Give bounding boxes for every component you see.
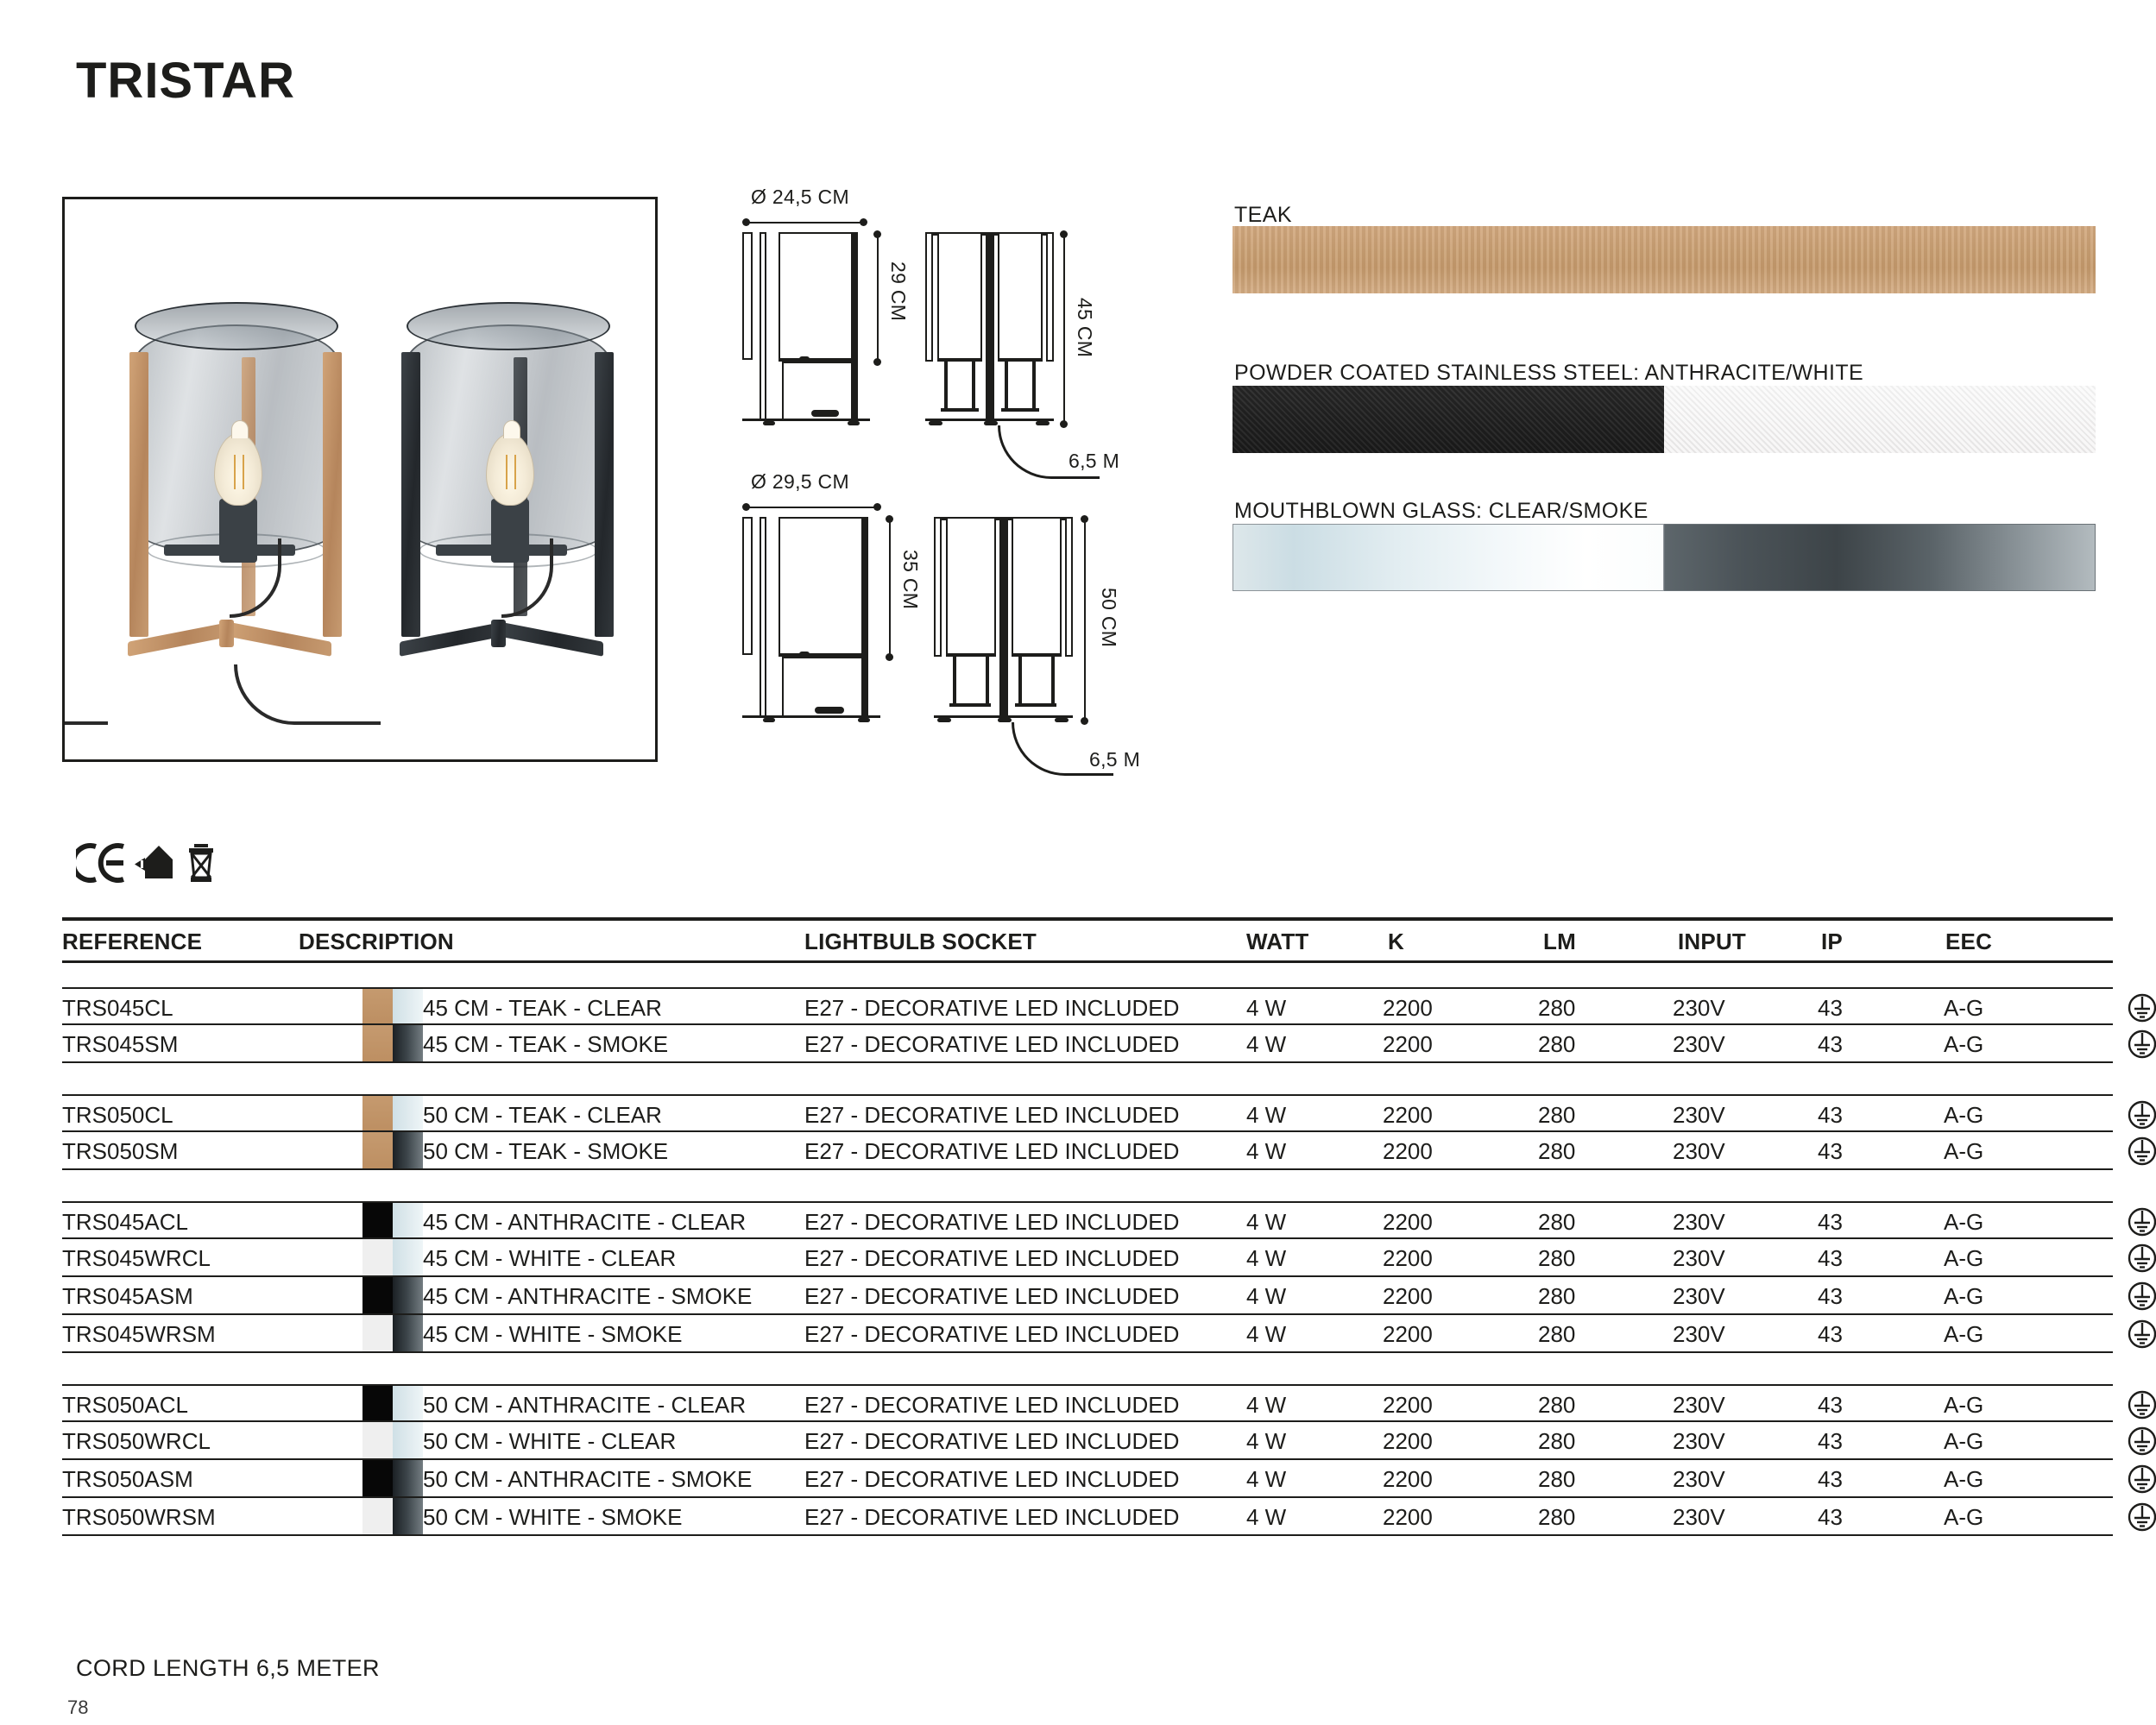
cell-input: 230V [1673, 1321, 1725, 1348]
dim-cord-a: 6,5 M [1069, 450, 1119, 473]
cell-input: 230V [1673, 1209, 1725, 1236]
cell-reference: TRS050SM [62, 1138, 178, 1165]
cell-socket: E27 - DECORATIVE LED INCLUDED [804, 1209, 1179, 1236]
cell-ip: 43 [1818, 1209, 1843, 1236]
cell-ip: 43 [1818, 1138, 1843, 1165]
cell-input: 230V [1673, 1283, 1725, 1310]
cell-ip: 43 [1818, 1466, 1843, 1493]
protective-earth-icon [2127, 1281, 2156, 1318]
cell-lm: 280 [1538, 1466, 1575, 1493]
cell-description: 45 CM - WHITE - CLEAR [423, 1245, 676, 1272]
protective-earth-icon [2127, 1243, 2156, 1280]
table-row[interactable]: TRS050SM50 CM - TEAK - SMOKEE27 - DECORA… [62, 1132, 2113, 1170]
cell-ip: 43 [1818, 1283, 1843, 1310]
swatch-smoke-glass [1664, 524, 2096, 591]
dim-total-height-b: 50 CM [1097, 588, 1120, 647]
cell-lm: 280 [1538, 1102, 1575, 1129]
cell-reference: TRS050CL [62, 1102, 173, 1129]
col-header-k: K [1388, 929, 1404, 955]
cell-eec: A-G [1944, 1392, 1983, 1419]
cell-watt: 4 W [1246, 1392, 1286, 1419]
col-header-watt: WATT [1246, 929, 1309, 955]
page-title: TRISTAR [76, 52, 295, 110]
cord-left [62, 664, 108, 725]
table-row[interactable]: TRS050WRCL50 CM - WHITE - CLEARE27 - DEC… [62, 1422, 2113, 1460]
swatch-frame-teak [362, 989, 393, 1023]
cell-lm: 280 [1538, 1245, 1575, 1272]
swatch-glass-clear [393, 1203, 423, 1237]
frame-post-left [401, 352, 420, 637]
col-header-ip: IP [1821, 929, 1843, 955]
swatch-frame-anthracite [362, 1203, 393, 1237]
cell-reference: TRS045ACL [62, 1209, 188, 1236]
swatch-glass-clear [393, 1386, 423, 1420]
cell-socket: E27 - DECORATIVE LED INCLUDED [804, 1138, 1179, 1165]
cell-input: 230V [1673, 1428, 1725, 1455]
cell-socket: E27 - DECORATIVE LED INCLUDED [804, 1321, 1179, 1348]
swatch-frame-teak [362, 1132, 393, 1168]
cell-socket: E27 - DECORATIVE LED INCLUDED [804, 1102, 1179, 1129]
table-header-rule [62, 960, 2113, 963]
cell-socket: E27 - DECORATIVE LED INCLUDED [804, 1031, 1179, 1058]
table-row[interactable]: TRS045CL45 CM - TEAK - CLEARE27 - DECORA… [62, 987, 2113, 1025]
dim-diameter-b: Ø 29,5 CM [751, 470, 849, 494]
glass-top-ellipse [135, 302, 338, 350]
cell-description: 50 CM - ANTHRACITE - SMOKE [423, 1466, 752, 1493]
cell-lm: 280 [1538, 1321, 1575, 1348]
material-label-steel: POWDER COATED STAINLESS STEEL: ANTHRACIT… [1234, 361, 1863, 386]
ce-mark-icon [76, 843, 126, 883]
table-group: TRS050ACL50 CM - ANTHRACITE - CLEARE27 -… [62, 1384, 2113, 1536]
cell-watt: 4 W [1246, 1138, 1286, 1165]
cell-k: 2200 [1383, 1428, 1433, 1455]
swatch-glass-clear [393, 1096, 423, 1130]
swatch-clear-glass [1232, 524, 1664, 591]
cell-k: 2200 [1383, 1031, 1433, 1058]
technical-drawing-50cm: Ø 29,5 CM 35 CM [742, 470, 1191, 755]
cell-socket: E27 - DECORATIVE LED INCLUDED [804, 1504, 1179, 1531]
cell-eec: A-G [1944, 1102, 1983, 1129]
cell-k: 2200 [1383, 1392, 1433, 1419]
cell-socket: E27 - DECORATIVE LED INCLUDED [804, 1245, 1179, 1272]
cell-k: 2200 [1383, 1283, 1433, 1310]
swatch-frame-anthracite [362, 1460, 393, 1496]
cell-reference: TRS050ACL [62, 1392, 188, 1419]
cell-input: 230V [1673, 1138, 1725, 1165]
protective-earth-icon [2127, 992, 2156, 1029]
table-row[interactable]: TRS050ASM50 CM - ANTHRACITE - SMOKEE27 -… [62, 1460, 2113, 1498]
col-header-lm: LM [1543, 929, 1576, 955]
cell-k: 2200 [1383, 1102, 1433, 1129]
cell-lm: 280 [1538, 1031, 1575, 1058]
cell-k: 2200 [1383, 1321, 1433, 1348]
cell-watt: 4 W [1246, 1245, 1286, 1272]
cell-ip: 43 [1818, 1321, 1843, 1348]
cell-eec: A-G [1944, 1245, 1983, 1272]
swatch-white [1664, 386, 2096, 453]
cell-lm: 280 [1538, 1428, 1575, 1455]
swatch-glass-smoke [393, 1498, 423, 1534]
protective-earth-icon [2127, 1206, 2156, 1243]
col-header-socket: LIGHTBULB SOCKET [804, 929, 1037, 955]
cell-eec: A-G [1944, 1466, 1983, 1493]
swatch-glass-clear [393, 1239, 423, 1275]
catalog-page: TRISTAR [0, 0, 2156, 1725]
table-group: TRS050CL50 CM - TEAK - CLEARE27 - DECORA… [62, 1094, 2113, 1170]
swatch-frame-anthracite [362, 1386, 393, 1420]
swatch-frame-teak [362, 1025, 393, 1061]
specification-table: REFERENCE DESCRIPTION LIGHTBULB SOCKET W… [62, 917, 2113, 1536]
lamp-anthracite [384, 252, 634, 658]
protective-earth-icon [2127, 1029, 2156, 1066]
cell-socket: E27 - DECORATIVE LED INCLUDED [804, 1283, 1179, 1310]
cell-watt: 4 W [1246, 1283, 1286, 1310]
cell-eec: A-G [1944, 1504, 1983, 1531]
cell-watt: 4 W [1246, 1466, 1286, 1493]
cell-ip: 43 [1818, 1428, 1843, 1455]
cell-socket: E27 - DECORATIVE LED INCLUDED [804, 995, 1179, 1022]
indoor-use-icon [133, 844, 176, 882]
table-row[interactable]: TRS050ACL50 CM - ANTHRACITE - CLEARE27 -… [62, 1384, 2113, 1422]
cell-eec: A-G [1944, 1138, 1983, 1165]
protective-earth-icon [2127, 1136, 2156, 1173]
cell-input: 230V [1673, 1245, 1725, 1272]
cell-watt: 4 W [1246, 995, 1286, 1022]
cell-eec: A-G [1944, 1209, 1983, 1236]
cell-description: 50 CM - WHITE - CLEAR [423, 1428, 676, 1455]
material-label-teak: TEAK [1234, 203, 1292, 228]
dim-total-height-a: 45 CM [1073, 298, 1096, 357]
cell-socket: E27 - DECORATIVE LED INCLUDED [804, 1392, 1179, 1419]
cell-description: 45 CM - ANTHRACITE - CLEAR [423, 1209, 746, 1236]
protective-earth-icon [2127, 1319, 2156, 1356]
table-header-row: REFERENCE DESCRIPTION LIGHTBULB SOCKET W… [62, 921, 2113, 960]
cell-description: 45 CM - TEAK - CLEAR [423, 995, 662, 1022]
cell-reference: TRS050ASM [62, 1466, 193, 1493]
dim-cord-b: 6,5 M [1089, 748, 1140, 771]
table-row[interactable]: TRS045WRSM45 CM - WHITE - SMOKEE27 - DEC… [62, 1315, 2113, 1353]
table-row[interactable]: TRS045WRCL45 CM - WHITE - CLEARE27 - DEC… [62, 1239, 2113, 1277]
cell-watt: 4 W [1246, 1428, 1286, 1455]
swatch-glass-smoke [393, 1277, 423, 1313]
swatch-glass-smoke [393, 1460, 423, 1496]
cell-description: 45 CM - WHITE - SMOKE [423, 1321, 682, 1348]
swatch-anthracite [1232, 386, 1664, 453]
cell-description: 45 CM - ANTHRACITE - SMOKE [423, 1283, 752, 1310]
cell-watt: 4 W [1246, 1504, 1286, 1531]
cell-lm: 280 [1538, 1209, 1575, 1236]
cell-reference: TRS045ASM [62, 1283, 193, 1310]
cell-reference: TRS045CL [62, 995, 173, 1022]
cell-ip: 43 [1818, 1392, 1843, 1419]
table-group: TRS045ACL45 CM - ANTHRACITE - CLEARE27 -… [62, 1201, 2113, 1353]
col-header-input: INPUT [1678, 929, 1746, 955]
cell-reference: TRS045WRCL [62, 1245, 211, 1272]
swatch-frame-white [362, 1422, 393, 1458]
lamp-teak [112, 252, 362, 658]
cord-drop [501, 538, 553, 618]
swatch-frame-anthracite [362, 1277, 393, 1313]
cell-input: 230V [1673, 1504, 1725, 1531]
frame-post-right [595, 352, 614, 637]
cell-k: 2200 [1383, 1209, 1433, 1236]
page-number: 78 [67, 1697, 88, 1719]
table-body: TRS045CL45 CM - TEAK - CLEARE27 - DECORA… [62, 987, 2113, 1536]
cell-ip: 43 [1818, 1102, 1843, 1129]
cell-ip: 43 [1818, 1245, 1843, 1272]
technical-drawing-45cm: Ø 24,5 CM 29 CM [742, 186, 1191, 470]
swatch-frame-teak [362, 1096, 393, 1130]
cell-watt: 4 W [1246, 1102, 1286, 1129]
swatch-glass-smoke [393, 1315, 423, 1351]
dim-shade-height-b: 35 CM [898, 550, 922, 609]
cell-watt: 4 W [1246, 1209, 1286, 1236]
cell-lm: 280 [1538, 1138, 1575, 1165]
cell-input: 230V [1673, 1102, 1725, 1129]
cell-input: 230V [1673, 995, 1725, 1022]
tripod-foot [123, 620, 337, 649]
filament [506, 455, 516, 489]
table-row[interactable]: TRS045SM45 CM - TEAK - SMOKEE27 - DECORA… [62, 1025, 2113, 1063]
filament [234, 455, 244, 489]
cell-k: 2200 [1383, 1466, 1433, 1493]
cell-k: 2200 [1383, 1245, 1433, 1272]
cell-description: 50 CM - ANTHRACITE - CLEAR [423, 1392, 746, 1419]
swatch-glass-clear [393, 989, 423, 1023]
material-label-glass: MOUTHBLOWN GLASS: CLEAR/SMOKE [1234, 499, 1649, 524]
cell-socket: E27 - DECORATIVE LED INCLUDED [804, 1466, 1179, 1493]
protective-earth-icon [2127, 1099, 2156, 1136]
col-header-description: DESCRIPTION [299, 929, 454, 955]
swatch-teak [1232, 226, 2096, 293]
cell-reference: TRS050WRSM [62, 1504, 216, 1531]
cell-description: 45 CM - TEAK - SMOKE [423, 1031, 668, 1058]
table-row[interactable]: TRS045ACL45 CM - ANTHRACITE - CLEARE27 -… [62, 1201, 2113, 1239]
dim-shade-height-a: 29 CM [886, 261, 910, 321]
cell-input: 230V [1673, 1392, 1725, 1419]
col-header-reference: REFERENCE [62, 929, 202, 955]
cell-ip: 43 [1818, 1504, 1843, 1531]
glass-top-ellipse [407, 302, 610, 350]
cell-lm: 280 [1538, 1504, 1575, 1531]
cell-eec: A-G [1944, 1031, 1983, 1058]
cell-input: 230V [1673, 1031, 1725, 1058]
cell-watt: 4 W [1246, 1031, 1286, 1058]
table-row[interactable]: TRS045ASM45 CM - ANTHRACITE - SMOKEE27 -… [62, 1277, 2113, 1315]
swatch-frame-white [362, 1315, 393, 1351]
certification-icons [76, 841, 240, 890]
weee-bin-icon [186, 843, 216, 883]
cell-k: 2200 [1383, 1138, 1433, 1165]
cell-ip: 43 [1818, 1031, 1843, 1058]
cell-k: 2200 [1383, 995, 1433, 1022]
swatch-frame-white [362, 1239, 393, 1275]
cell-eec: A-G [1944, 995, 1983, 1022]
frame-post-right [323, 352, 342, 637]
cell-lm: 280 [1538, 1283, 1575, 1310]
protective-earth-icon [2127, 1464, 2156, 1501]
cell-eec: A-G [1944, 1321, 1983, 1348]
cell-reference: TRS045WRSM [62, 1321, 216, 1348]
frame-post-left [129, 352, 148, 637]
tripod-foot [394, 620, 608, 649]
cell-description: 50 CM - TEAK - SMOKE [423, 1138, 668, 1165]
swatch-glass-smoke [393, 1025, 423, 1061]
swatch-glass-clear [393, 1422, 423, 1458]
swatch-glass-smoke [393, 1132, 423, 1168]
table-row[interactable]: TRS050WRSM50 CM - WHITE - SMOKEE27 - DEC… [62, 1498, 2113, 1536]
cell-k: 2200 [1383, 1504, 1433, 1531]
product-photo [62, 197, 658, 762]
swatch-frame-white [362, 1498, 393, 1534]
cell-description: 50 CM - WHITE - SMOKE [423, 1504, 682, 1531]
cord-drop [230, 538, 281, 618]
cord-right [234, 664, 381, 725]
cell-eec: A-G [1944, 1283, 1983, 1310]
cell-reference: TRS050WRCL [62, 1428, 211, 1455]
protective-earth-icon [2127, 1426, 2156, 1463]
cell-eec: A-G [1944, 1428, 1983, 1455]
col-header-eec: EEC [1945, 929, 1992, 955]
table-group: TRS045CL45 CM - TEAK - CLEARE27 - DECORA… [62, 987, 2113, 1063]
table-row[interactable]: TRS050CL50 CM - TEAK - CLEARE27 - DECORA… [62, 1094, 2113, 1132]
protective-earth-icon [2127, 1502, 2156, 1539]
cell-lm: 280 [1538, 995, 1575, 1022]
dim-diameter-a: Ø 24,5 CM [751, 186, 849, 209]
cell-input: 230V [1673, 1466, 1725, 1493]
cell-lm: 280 [1538, 1392, 1575, 1419]
cell-reference: TRS045SM [62, 1031, 178, 1058]
cell-watt: 4 W [1246, 1321, 1286, 1348]
cell-ip: 43 [1818, 995, 1843, 1022]
protective-earth-icon [2127, 1389, 2156, 1426]
cord-length-note: CORD LENGTH 6,5 METER [76, 1655, 380, 1682]
cell-socket: E27 - DECORATIVE LED INCLUDED [804, 1428, 1179, 1455]
cell-description: 50 CM - TEAK - CLEAR [423, 1102, 662, 1129]
